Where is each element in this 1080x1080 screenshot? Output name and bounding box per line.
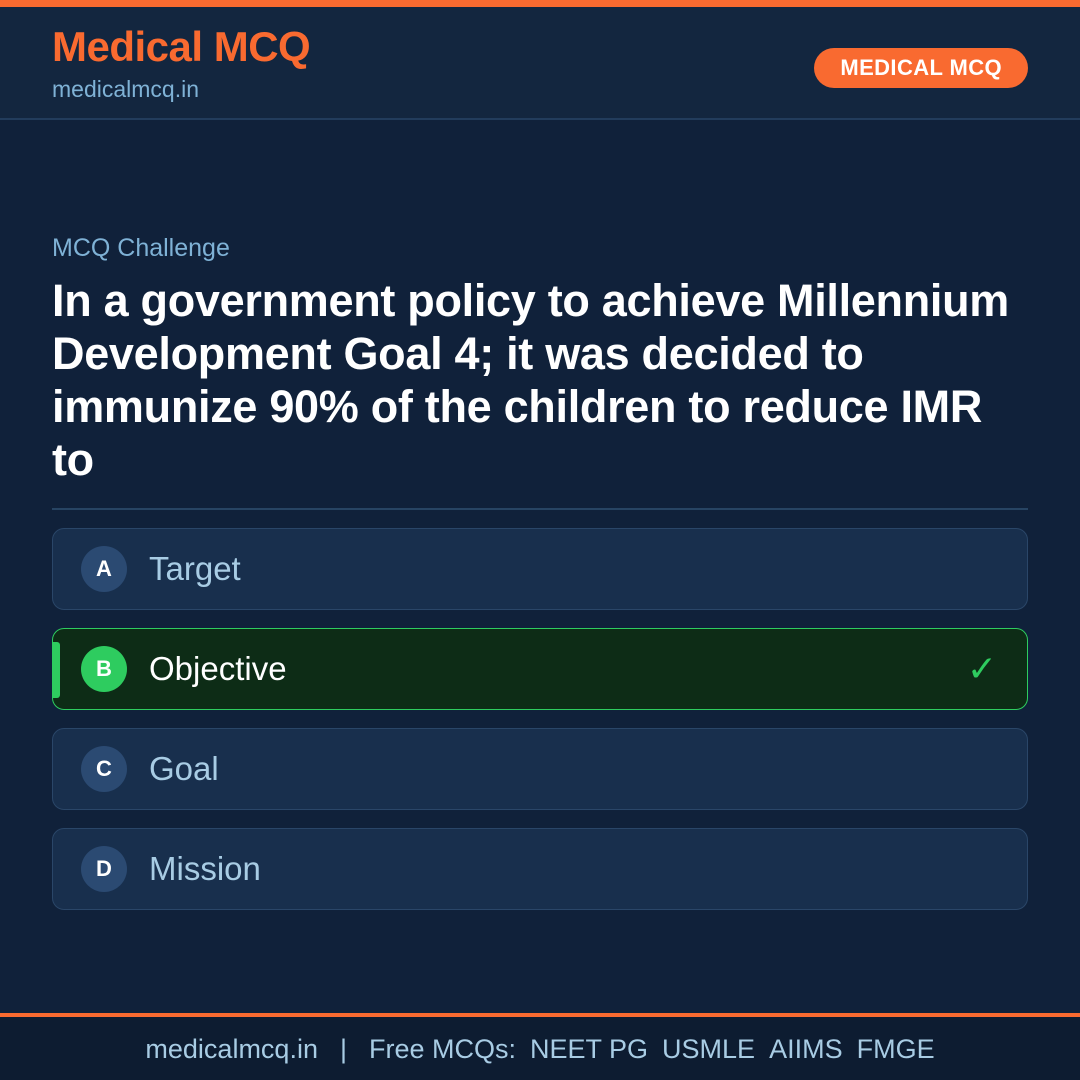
question-section: MCQ Challenge In a government policy to … [52,232,1028,510]
option-label: Objective [149,649,287,689]
option-a[interactable]: A Target ✓ [52,528,1028,610]
correct-accent-bar [53,642,60,698]
question-text: In a government policy to achieve Millen… [52,274,1028,486]
footer-label: Free MCQs: [369,1032,516,1066]
option-letter-badge: C [81,746,127,792]
check-icon: ✓ [967,649,997,689]
footer-separator: | [340,1032,347,1066]
footer-exam-fmge[interactable]: FMGE [857,1032,935,1066]
brand-title: Medical MCQ [52,22,310,72]
option-c[interactable]: C Goal ✓ [52,728,1028,810]
footer-site-link[interactable]: medicalmcq.in [145,1032,318,1066]
option-d[interactable]: D Mission ✓ [52,828,1028,910]
option-label: Mission [149,849,261,889]
option-label: Goal [149,749,219,789]
site-footer: medicalmcq.in | Free MCQs: NEET PG USMLE… [0,1017,1080,1080]
question-divider [52,508,1028,510]
option-letter-badge: D [81,846,127,892]
options-list: A Target ✓ B Objective ✓ C Goal ✓ D Miss… [52,528,1028,928]
eyebrow-label: MCQ Challenge [52,232,1028,264]
option-letter-badge: A [81,546,127,592]
footer-exam-aiims[interactable]: AIIMS [769,1032,843,1066]
brand: Medical MCQ medicalmcq.in [52,22,310,104]
header-badge-label: MEDICAL MCQ [840,55,1002,81]
option-b[interactable]: B Objective ✓ [52,628,1028,710]
footer-exam-usmle[interactable]: USMLE [662,1032,755,1066]
site-header: Medical MCQ medicalmcq.in MEDICAL MCQ [0,7,1080,120]
footer-content: medicalmcq.in | Free MCQs: NEET PG USMLE… [145,1032,934,1066]
header-badge[interactable]: MEDICAL MCQ [814,48,1028,88]
top-accent-bar [0,0,1080,7]
option-label: Target [149,549,241,589]
option-letter-badge: B [81,646,127,692]
brand-url: medicalmcq.in [52,74,310,104]
footer-exam-neet-pg[interactable]: NEET PG [530,1032,648,1066]
